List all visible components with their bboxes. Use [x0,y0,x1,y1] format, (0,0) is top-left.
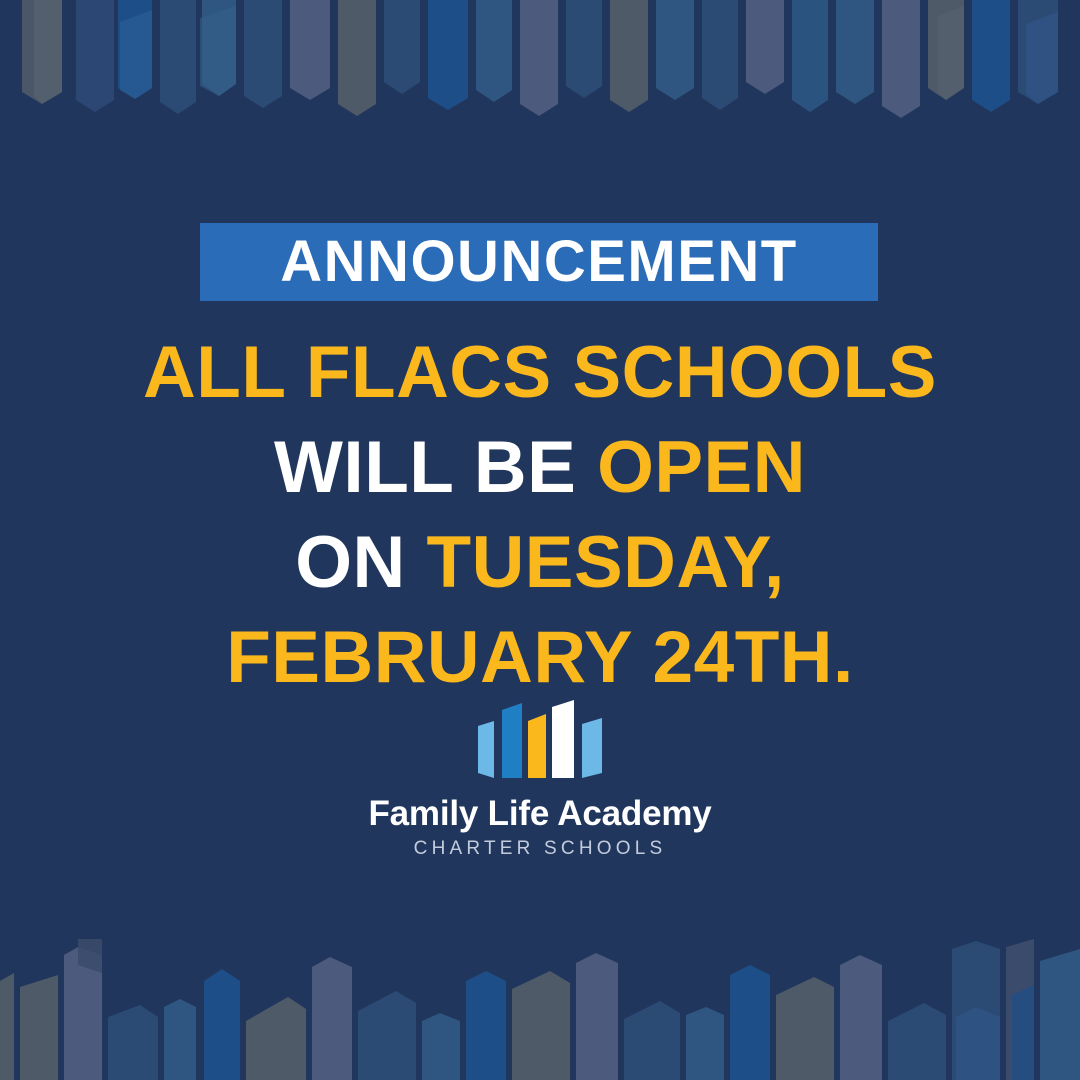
headline-segment: ON [295,522,426,603]
logo-subtitle: CHARTER SCHOOLS [0,839,1080,859]
headline-line-1: ALL FLACS SCHOOLS [0,325,1080,420]
logo-block: Family Life Academy CHARTER SCHOOLS [0,700,1080,859]
headline-segment: ALL FLACS SCHOOLS [143,332,937,413]
skyline-pattern-bottom [0,925,1080,1080]
headline-segment: OPEN [597,427,806,508]
headline-segment: TUESDAY, [426,522,784,603]
skyline-pattern-top [0,0,1080,135]
headline-segment: WILL BE [274,427,597,508]
announcement-poster: ANNOUNCEMENT ALL FLACS SCHOOLS WILL BE O… [0,0,1080,1080]
announcement-banner: ANNOUNCEMENT [200,223,878,301]
headline: ALL FLACS SCHOOLS WILL BE OPEN ON TUESDA… [0,325,1080,705]
headline-segment: FEBRUARY 24TH. [226,617,854,698]
headline-line-3: ON TUESDAY, [0,515,1080,610]
headline-line-4: FEBRUARY 24TH. [0,610,1080,705]
logo-name: Family Life Academy [0,796,1080,833]
headline-line-2: WILL BE OPEN [0,420,1080,515]
announcement-banner-label: ANNOUNCEMENT [280,233,797,291]
flacs-buildings-logo-icon [478,700,602,782]
